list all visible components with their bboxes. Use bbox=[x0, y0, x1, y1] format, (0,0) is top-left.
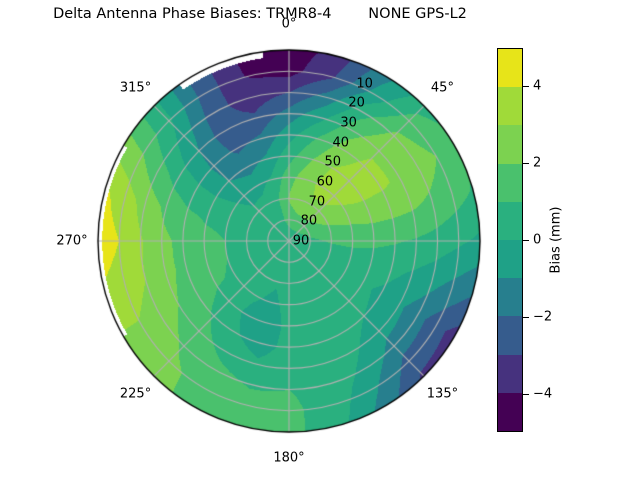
colorbar-tick-mark-0 bbox=[523, 394, 529, 395]
azimuth-tick-135: 135° bbox=[427, 387, 458, 402]
colorbar-band-6 bbox=[498, 164, 522, 202]
colorbar-band-4 bbox=[498, 240, 522, 278]
radial-tick-60: 60 bbox=[317, 174, 334, 189]
colorbar-band-0 bbox=[498, 393, 522, 431]
colorbar-band-8 bbox=[498, 87, 522, 125]
colorbar-tick-label-2: 0 bbox=[533, 233, 541, 248]
colorbar-gradient bbox=[497, 48, 523, 432]
radial-tick-30: 30 bbox=[340, 115, 357, 130]
radial-tick-40: 40 bbox=[332, 135, 349, 150]
azimuth-tick-270: 270° bbox=[56, 234, 87, 249]
azimuth-tick-315: 315° bbox=[120, 80, 151, 95]
colorbar-tick-label-0: −4 bbox=[533, 386, 552, 401]
colorbar-band-1 bbox=[498, 355, 522, 393]
radial-tick-90: 90 bbox=[293, 234, 310, 249]
azimuth-tick-0: 0° bbox=[282, 17, 297, 32]
colorbar-band-2 bbox=[498, 316, 522, 354]
polar-contour-plot bbox=[0, 0, 640, 480]
colorbar-band-5 bbox=[498, 202, 522, 240]
azimuth-tick-225: 225° bbox=[120, 387, 151, 402]
azimuth-tick-45: 45° bbox=[431, 80, 454, 95]
azimuth-tick-180: 180° bbox=[273, 451, 304, 466]
colorbar-band-7 bbox=[498, 125, 522, 163]
colorbar-tick-label-1: −2 bbox=[533, 309, 552, 324]
colorbar-tick-mark-3 bbox=[523, 163, 529, 164]
colorbar-band-9 bbox=[498, 49, 522, 87]
colorbar-tick-mark-1 bbox=[523, 317, 529, 318]
radial-tick-80: 80 bbox=[301, 214, 318, 229]
colorbar-tick-label-3: 2 bbox=[533, 156, 541, 171]
colorbar-tick-label-4: 4 bbox=[533, 79, 541, 94]
figure-canvas: Delta Antenna Phase Biases: TRMR8-4 NONE… bbox=[0, 0, 640, 480]
radial-tick-50: 50 bbox=[325, 155, 342, 170]
colorbar-band-3 bbox=[498, 278, 522, 316]
radial-tick-10: 10 bbox=[356, 76, 373, 91]
radial-tick-20: 20 bbox=[348, 96, 365, 111]
colorbar-axis-label: Bias (mm) bbox=[549, 207, 564, 274]
radial-tick-70: 70 bbox=[309, 194, 326, 209]
colorbar: −4−2024 bbox=[497, 48, 523, 432]
colorbar-tick-mark-4 bbox=[523, 86, 529, 87]
colorbar-tick-mark-2 bbox=[523, 240, 529, 241]
